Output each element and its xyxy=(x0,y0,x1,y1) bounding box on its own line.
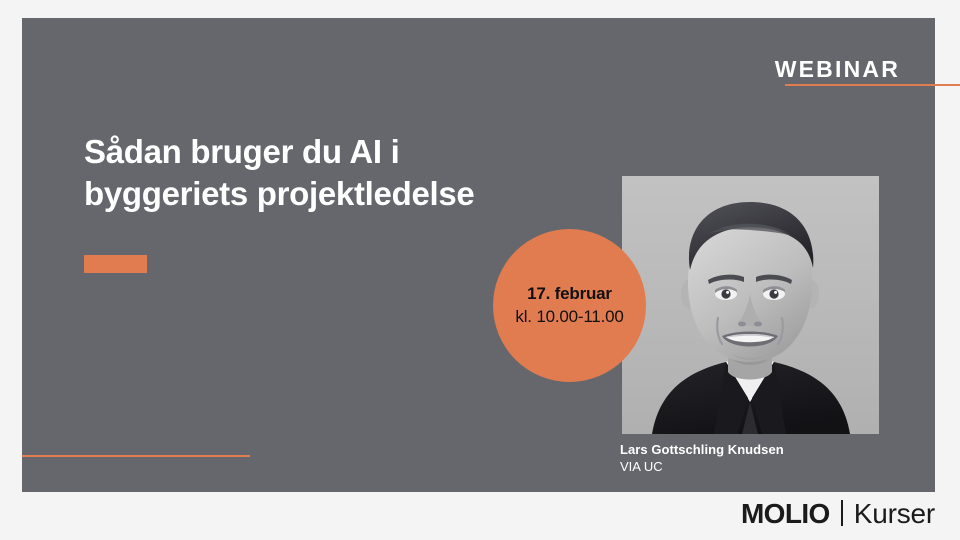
webinar-promo-banner: WEBINAR Sådan bruger du AI i byggeriets … xyxy=(0,0,960,540)
accent-bar xyxy=(84,255,147,273)
brand-logo-sub: Kurser xyxy=(854,498,935,530)
eyebrow-label: WEBINAR xyxy=(775,58,900,81)
bottom-accent-rule xyxy=(22,455,250,457)
speaker-caption: Lars Gottschling Knudsen VIA UC xyxy=(620,442,784,476)
date-badge-time: kl. 10.00-11.00 xyxy=(515,306,623,329)
portrait-illustration xyxy=(622,176,879,434)
headline-line-1: Sådan bruger du AI i xyxy=(84,131,554,173)
eyebrow-accent-rule xyxy=(785,84,960,86)
headline-line-2: byggeriets projektledelse xyxy=(84,173,554,215)
brand-logo-divider xyxy=(841,500,843,526)
date-badge-day: 17. februar xyxy=(527,283,612,306)
speaker-name: Lars Gottschling Knudsen xyxy=(620,442,784,459)
banner-panel: WEBINAR Sådan bruger du AI i byggeriets … xyxy=(22,18,935,492)
date-badge: 17. februar kl. 10.00-11.00 xyxy=(493,229,646,382)
headline: Sådan bruger du AI i byggeriets projektl… xyxy=(84,131,554,215)
speaker-organization: VIA UC xyxy=(620,459,784,476)
speaker-photo xyxy=(622,176,879,434)
brand-logo-mark: MOLIO xyxy=(741,498,830,530)
brand-logo: MOLIO Kurser xyxy=(741,497,935,530)
